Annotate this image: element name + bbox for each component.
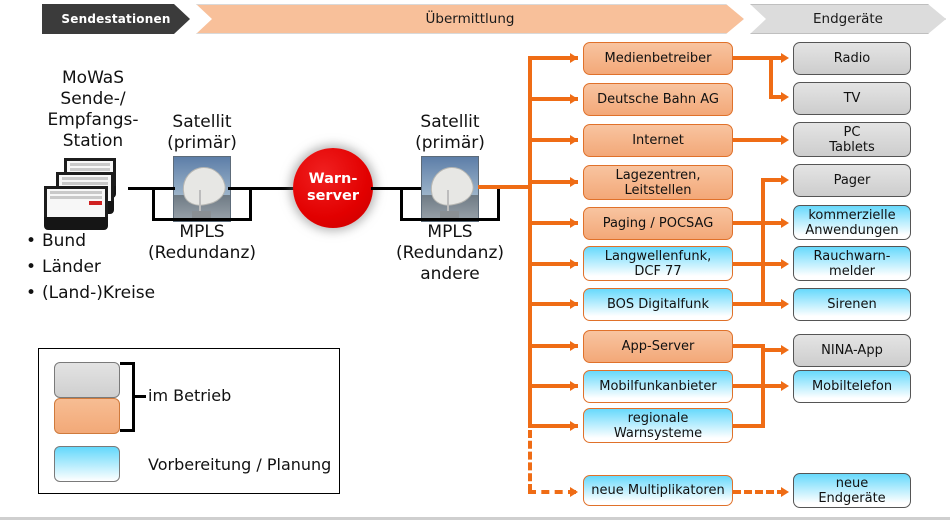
device-pager[interactable]: Pager (793, 164, 911, 197)
box-label-line: DCF 77 (605, 264, 712, 279)
box-label-line: melder (814, 264, 891, 279)
arrow-head-icon (570, 341, 578, 351)
connector-device-bus-upper (761, 178, 765, 306)
arrow-head-icon (781, 345, 789, 355)
arrow-head-icon (781, 299, 789, 309)
phase-banner-label: Übermittlung (426, 11, 515, 27)
arrow-head-icon (781, 53, 789, 63)
box-label-line: Anwendungen (805, 223, 898, 238)
link-redundancy-2-bottom (400, 218, 500, 221)
arrow-head-icon (781, 135, 789, 145)
link-redundancy-1-right (249, 187, 252, 221)
phase-banner-endgeraete: Endgeräte (750, 4, 946, 34)
box-label-line: kommerzielle (805, 208, 898, 223)
satellite-dish-icon (421, 156, 479, 222)
link-satellite1-warnserver (228, 187, 300, 190)
mpls-label-line: andere (394, 264, 506, 285)
connector-medienbetreiber-out (733, 56, 773, 60)
mpls-label-line: MPLS (146, 222, 258, 243)
device-pc-tablets[interactable]: PC Tablets (793, 122, 911, 157)
box-label-line: Endgeräte (818, 491, 885, 506)
connector-medienbetreiber-fork (769, 56, 773, 99)
station-label: MoWaS Sende-/ Empfangs- Station (18, 68, 168, 152)
station-label-line: Empfangs- (18, 110, 168, 131)
device-mobiltelefon[interactable]: Mobiltelefon (793, 370, 911, 403)
warn-server-label-line: Warn- (307, 171, 359, 188)
box-label-line: Deutsche Bahn AG (597, 92, 719, 107)
phase-banner-uebermittlung: Übermittlung (196, 4, 744, 34)
multiplier-langwellenfunk-dcf77[interactable]: Langwellenfunk, DCF 77 (583, 246, 733, 281)
connector-satellite2-to-bus (478, 185, 532, 189)
phase-banner-label: Endgeräte (813, 11, 883, 27)
multiplier-bos-digitalfunk[interactable]: BOS Digitalfunk (583, 288, 733, 321)
arrow-head-icon (781, 175, 789, 185)
multiplier-deutsche-bahn-ag[interactable]: Deutsche Bahn AG (583, 83, 733, 116)
legend-label-in-betrieb: im Betrieb (148, 386, 231, 405)
arrow-head-icon (781, 218, 789, 228)
mpls-1-label: MPLS (Redundanz) (146, 222, 258, 264)
arrow-head-icon (570, 487, 578, 497)
arrow-head-icon (570, 94, 578, 104)
link-redundancy-2-left (400, 187, 403, 221)
warn-server-node: Warn- server (293, 148, 373, 228)
arrow-head-icon (570, 218, 578, 228)
box-label-line: Pager (834, 173, 871, 188)
arrow-head-icon (570, 259, 578, 269)
station-label-line: Sende-/ (18, 89, 168, 110)
satellite-label-line: (primär) (398, 133, 502, 154)
multiplier-lagezentren-leitstellen[interactable]: Lagezentren, Leitstellen (583, 165, 733, 200)
legend-swatch-grey (54, 362, 120, 398)
satellite-label-line: Satellit (398, 112, 502, 133)
box-label-line: PC (829, 125, 875, 140)
multiplier-app-server[interactable]: App-Server (583, 330, 733, 363)
legend-label-vorbereitung: Vorbereitung / Planung (148, 455, 331, 474)
mpls-2-label: MPLS (Redundanz) andere (394, 222, 506, 285)
satellite-dish-icon (173, 156, 231, 222)
diagram-canvas: Sendestationen Übermittlung Endgeräte Mo… (0, 0, 950, 520)
arrow-head-icon (781, 259, 789, 269)
list-item: (Land-)Kreise (26, 280, 226, 306)
box-label-line: Radio (834, 51, 871, 66)
satellite-primary-2-label: Satellit (primär) (398, 112, 502, 154)
link-warnserver-satellite2 (371, 187, 425, 190)
box-label-line: Mobilfunkanbieter (599, 379, 717, 394)
station-label-line: Station (18, 131, 168, 152)
box-label-line: Paging / POCSAG (603, 216, 714, 231)
arrow-head-icon (781, 381, 789, 391)
box-label-line: Warnsysteme (614, 426, 702, 441)
legend-swatch-blue (54, 446, 120, 482)
multiplier-internet[interactable]: Internet (583, 124, 733, 157)
box-label-line: BOS Digitalfunk (607, 297, 709, 312)
multiplier-paging-pocsag[interactable]: Paging / POCSAG (583, 207, 733, 240)
connector-dashed-neue-endgeraete (733, 490, 785, 494)
connector-internet-pc-tablets (733, 138, 785, 142)
multiplier-neue-multiplikatoren[interactable]: neue Multiplikatoren (583, 475, 733, 506)
box-label-line: Tablets (829, 140, 875, 155)
arrow-head-icon (781, 92, 789, 102)
box-label-line: neue Multiplikatoren (591, 483, 724, 498)
box-label-line: NINA-App (821, 343, 883, 358)
connector-main-bus (528, 56, 532, 426)
satellite-label-line: Satellit (150, 112, 254, 133)
device-radio[interactable]: Radio (793, 42, 911, 75)
link-redundancy-1-bottom (152, 218, 252, 221)
box-label-line: Mobiltelefon (812, 379, 892, 394)
mpls-label-line: (Redundanz) (146, 243, 258, 264)
box-label-line: regionale (614, 411, 702, 426)
box-label-line: Medienbetreiber (605, 51, 712, 66)
link-redundancy-2-right (497, 187, 500, 221)
device-nina-app[interactable]: NINA-App (793, 334, 911, 367)
arrow-head-icon (570, 135, 578, 145)
satellite-primary-1-label: Satellit (primär) (150, 112, 254, 154)
mpls-label-line: MPLS (394, 222, 506, 243)
station-label-line: MoWaS (18, 68, 168, 89)
device-tv[interactable]: TV (793, 82, 911, 115)
link-redundancy-1-left (152, 187, 155, 221)
phase-banner-sendestationen: Sendestationen (42, 4, 190, 34)
mpls-label-line: (Redundanz) (394, 243, 506, 264)
arrow-head-icon (570, 381, 578, 391)
device-sirenen[interactable]: Sirenen (793, 288, 911, 321)
box-label-line: Sirenen (827, 297, 876, 312)
device-neue-endgeraete[interactable]: neue Endgeräte (793, 473, 911, 508)
box-label-line: neue (818, 476, 885, 491)
box-label-line: Langwellenfunk, (605, 249, 712, 264)
satellite-label-line: (primär) (150, 133, 254, 154)
arrow-head-icon (570, 53, 578, 63)
box-label-line: Leitstellen (615, 183, 700, 198)
arrow-head-icon (781, 487, 789, 497)
multiplier-regionale-warnsysteme[interactable]: regionale Warnsysteme (583, 408, 733, 443)
arrow-head-icon (570, 177, 578, 187)
warn-server-label-line: server (307, 188, 359, 205)
arrow-head-icon (570, 299, 578, 309)
mowas-workstation-image (42, 158, 138, 228)
multiplier-medienbetreiber[interactable]: Medienbetreiber (583, 42, 733, 75)
box-label-line: Rauchwarn- (814, 249, 891, 264)
box-label-line: Internet (632, 133, 684, 148)
device-kommerzielle-anwendungen[interactable]: kommerzielle Anwendungen (793, 205, 911, 240)
box-label-line: Lagezentren, (615, 168, 700, 183)
multiplier-mobilfunkanbieter[interactable]: Mobilfunkanbieter (583, 370, 733, 403)
arrow-head-icon (570, 421, 578, 431)
box-label-line: TV (844, 91, 861, 106)
connector-bus-dashed-extension (528, 430, 532, 492)
phase-banner-label: Sendestationen (61, 12, 170, 26)
legend-brace (120, 362, 136, 432)
device-rauchwarnmelder[interactable]: Rauchwarn- melder (793, 246, 911, 281)
legend-swatch-orange (54, 398, 120, 434)
box-label-line: App-Server (622, 339, 695, 354)
laptop-icon (44, 186, 108, 230)
connector-dashed-to-neue-multiplikatoren (528, 490, 576, 494)
